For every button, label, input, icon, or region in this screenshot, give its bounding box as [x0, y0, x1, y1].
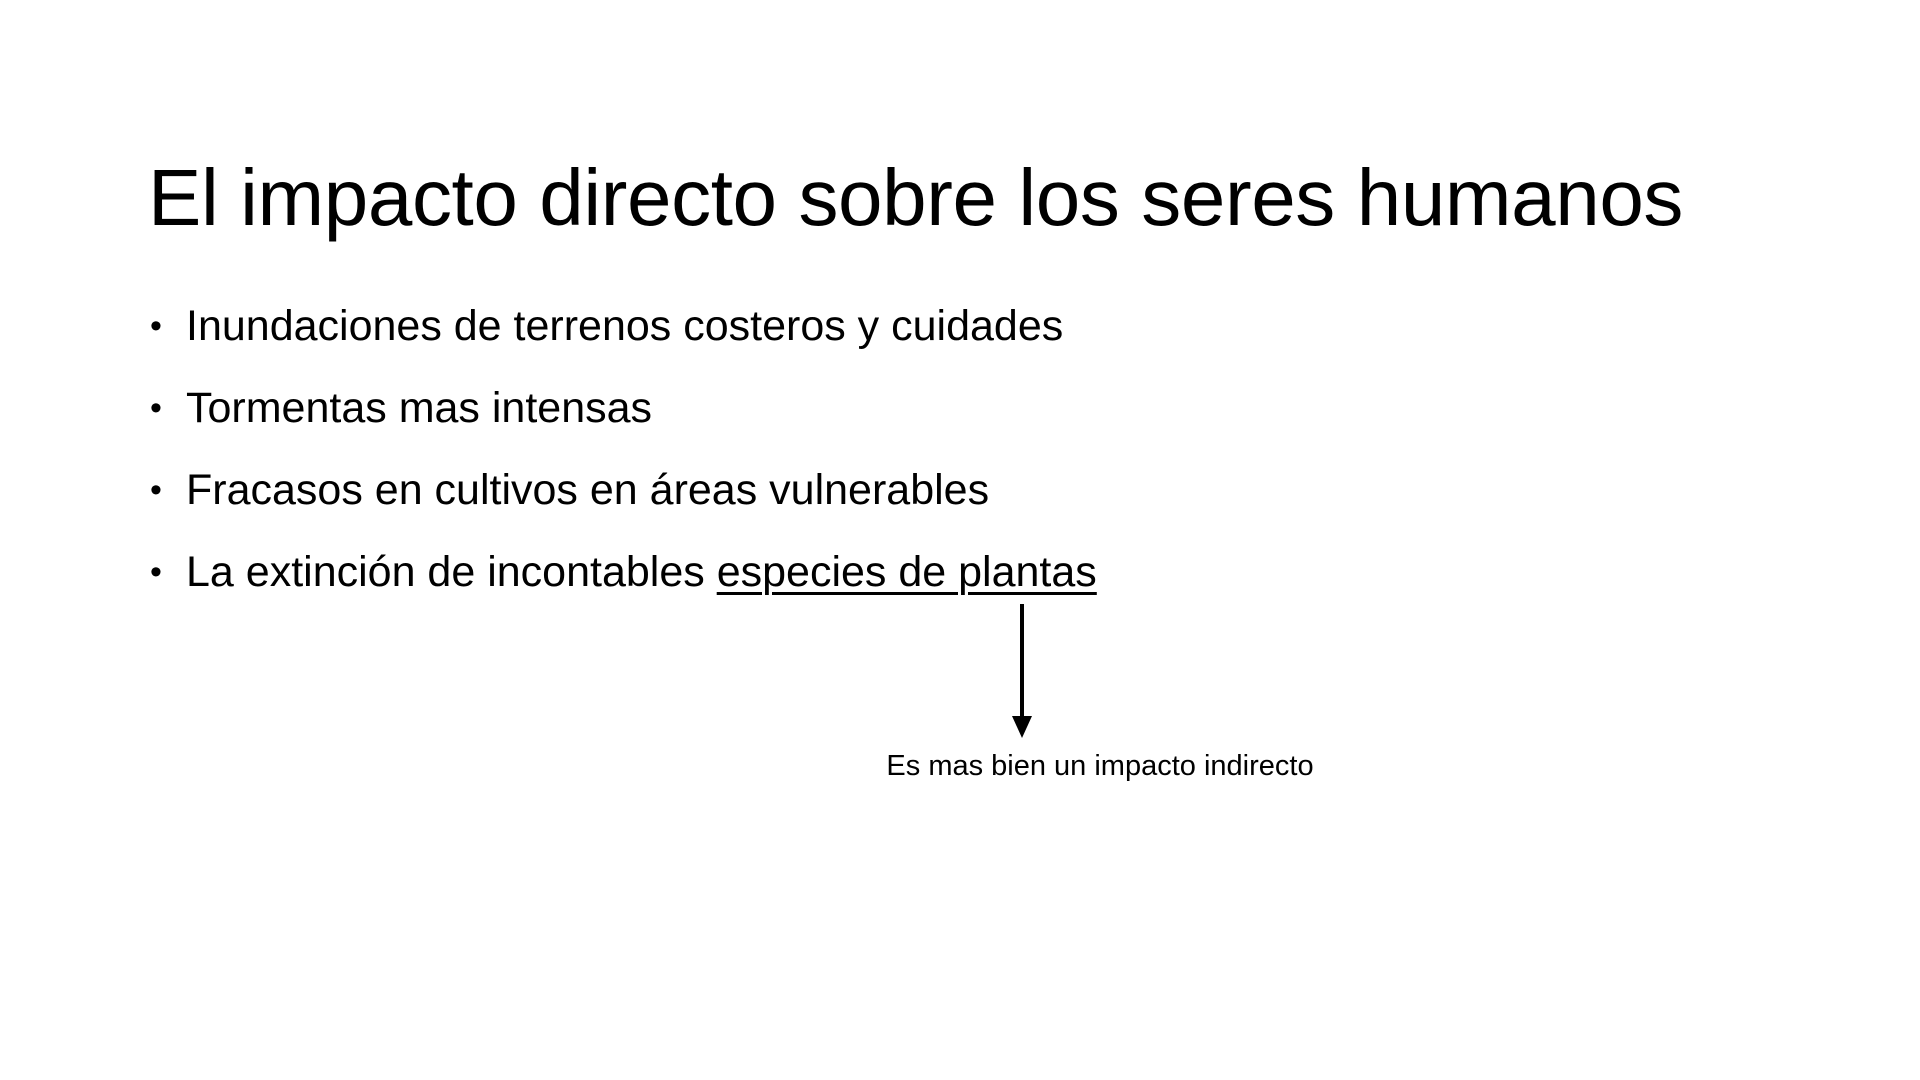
- bullet-item-label: Fracasos en cultivos en áreas vulnerable…: [186, 466, 989, 514]
- list-item: • Inundaciones de terrenos costeros y cu…: [148, 290, 1768, 372]
- presentation-slide: El impacto directo sobre los seres human…: [0, 0, 1920, 1080]
- list-item: • Fracasos en cultivos en áreas vulnerab…: [148, 454, 1768, 536]
- bullet-item-label: Tormentas mas intensas: [186, 384, 652, 432]
- bullet-item-label: La extinción de incontables: [186, 548, 717, 596]
- arrow-down-icon: [1000, 604, 1044, 740]
- slide-title: El impacto directo sobre los seres human…: [148, 150, 1808, 246]
- bullet-item-emphasis: especies de plantas: [717, 548, 1097, 596]
- list-item: • Tormentas mas intensas: [148, 372, 1768, 454]
- bullet-point-icon: •: [150, 536, 162, 608]
- bullet-item-label: Inundaciones de terrenos costeros y cuid…: [186, 302, 1063, 350]
- bullet-list: • Inundaciones de terrenos costeros y cu…: [148, 290, 1768, 618]
- bullet-point-icon: •: [150, 372, 162, 444]
- arrow-caption-label: Es mas bien un impacto indirecto: [800, 747, 1400, 785]
- list-item: • La extinción de incontables especies d…: [148, 536, 1768, 618]
- bullet-point-icon: •: [150, 454, 162, 526]
- bullet-point-icon: •: [150, 290, 162, 362]
